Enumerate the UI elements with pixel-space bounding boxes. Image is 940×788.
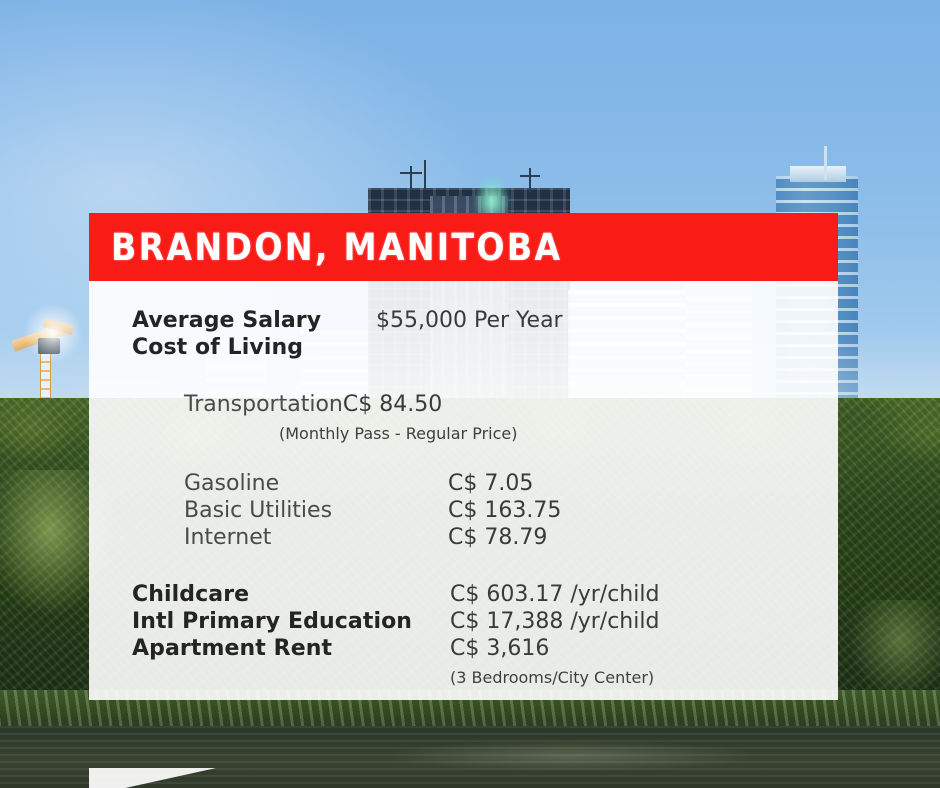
cost-of-living-card: BRANDON, MANITOBA Average Salary $55,000… bbox=[89, 213, 838, 700]
list-item: Internet C$ 78.79 bbox=[184, 525, 838, 552]
water-reflection bbox=[340, 736, 800, 776]
apartment-rent-label: Apartment Rent bbox=[132, 636, 450, 663]
transportation-label: Transportation bbox=[184, 392, 343, 419]
internet-value: C$ 78.79 bbox=[448, 525, 547, 552]
basic-utilities-value: C$ 163.75 bbox=[448, 498, 561, 525]
row-average-salary: Average Salary $55,000 Per Year bbox=[132, 308, 838, 335]
antenna-crossbar-1 bbox=[400, 172, 422, 174]
spacer-3 bbox=[89, 552, 838, 582]
family-costs-block: Childcare C$ 603.17 /yr/child Intl Prima… bbox=[89, 582, 838, 687]
internet-label: Internet bbox=[184, 525, 448, 552]
blue-tower-spire bbox=[824, 146, 827, 180]
card-corner-tail bbox=[89, 768, 216, 788]
transportation-note: (Monthly Pass - Regular Price) bbox=[279, 424, 517, 443]
cost-of-living-label: Cost of Living bbox=[132, 335, 376, 362]
childcare-label: Childcare bbox=[132, 582, 450, 609]
basic-utilities-label: Basic Utilities bbox=[184, 498, 448, 525]
childcare-value: C$ 603.17 /yr/child bbox=[450, 582, 659, 609]
average-salary-value: $55,000 Per Year bbox=[376, 308, 563, 335]
row-transportation: Transportation C$ 84.50 bbox=[184, 392, 838, 419]
row-transportation-note: (Monthly Pass - Regular Price) bbox=[184, 424, 838, 443]
list-item: Apartment Rent C$ 3,616 bbox=[132, 636, 838, 663]
spacer-2 bbox=[89, 443, 838, 471]
transportation-block: Transportation C$ 84.50 (Monthly Pass - … bbox=[89, 392, 838, 444]
antenna-mast-2 bbox=[424, 160, 426, 190]
card-header: BRANDON, MANITOBA bbox=[89, 213, 838, 281]
antenna-crossbar-2 bbox=[520, 175, 540, 177]
row-cost-of-living: Cost of Living bbox=[132, 335, 838, 362]
antenna-mast-3 bbox=[529, 168, 531, 192]
page-title: BRANDON, MANITOBA bbox=[111, 229, 562, 266]
summary-block: Average Salary $55,000 Per Year Cost of … bbox=[89, 308, 838, 362]
intl-primary-education-value: C$ 17,388 /yr/child bbox=[450, 609, 659, 636]
list-item: Gasoline C$ 7.05 bbox=[184, 471, 838, 498]
average-salary-label: Average Salary bbox=[132, 308, 376, 335]
blue-tower-cap bbox=[790, 166, 846, 182]
card-body: Average Salary $55,000 Per Year Cost of … bbox=[89, 281, 838, 700]
antenna-mast-1 bbox=[410, 166, 412, 190]
intl-primary-education-label: Intl Primary Education bbox=[132, 609, 450, 636]
transportation-value: C$ 84.50 bbox=[343, 392, 442, 419]
gasoline-label: Gasoline bbox=[184, 471, 448, 498]
list-item: Basic Utilities C$ 163.75 bbox=[184, 498, 838, 525]
gasoline-value: C$ 7.05 bbox=[448, 471, 533, 498]
row-rent-note: (3 Bedrooms/City Center) bbox=[132, 668, 838, 687]
lens-flare bbox=[22, 302, 84, 364]
list-item: Childcare C$ 603.17 /yr/child bbox=[132, 582, 838, 609]
utilities-block: Gasoline C$ 7.05 Basic Utilities C$ 163.… bbox=[89, 471, 838, 551]
apartment-rent-note: (3 Bedrooms/City Center) bbox=[450, 668, 654, 687]
screenshot-root: BRANDON, MANITOBA Average Salary $55,000… bbox=[0, 0, 940, 788]
list-item: Intl Primary Education C$ 17,388 /yr/chi… bbox=[132, 609, 838, 636]
spacer-1 bbox=[89, 362, 838, 392]
apartment-rent-value: C$ 3,616 bbox=[450, 636, 549, 663]
